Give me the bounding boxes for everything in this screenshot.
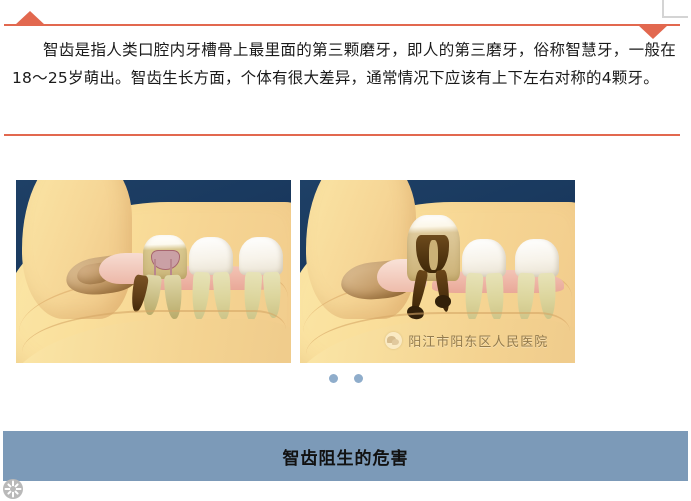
gallery-image-1[interactable]	[16, 180, 291, 363]
gallery-pagination[interactable]	[0, 374, 691, 383]
page-root: { "page": { "background_color": "#ffffff…	[0, 0, 691, 501]
gallery-image-2[interactable]: 阳江市阳东区人民医院	[300, 180, 575, 363]
triangle-up-icon	[15, 11, 45, 25]
molar-crown-2	[239, 237, 283, 275]
pulp-cavity-highlight	[429, 240, 437, 269]
molar-crown-1	[189, 237, 233, 275]
wechat-badge-icon	[385, 332, 402, 349]
sparkle-icon[interactable]	[3, 479, 23, 499]
quote-bottom-rule	[4, 134, 680, 136]
quote-top-rule	[4, 24, 680, 26]
section-title: 智齿阻生的危害	[283, 444, 409, 469]
selection-corner-box	[662, 0, 688, 18]
quote-paragraph: 智齿是指人类口腔内牙槽骨上最里面的第三颗磨牙，即人的第三磨牙，俗称智慧牙，一般在…	[12, 36, 676, 92]
section-title-bar: 智齿阻生的危害	[3, 431, 688, 481]
hospital-watermark: 阳江市阳东区人民医院	[385, 331, 548, 350]
quote-block: 智齿是指人类口腔内牙槽骨上最里面的第三颗磨牙，即人的第三磨牙，俗称智慧牙，一般在…	[0, 24, 691, 136]
image-gallery: 阳江市阳东区人民医院	[16, 180, 675, 363]
molar-crown-2	[515, 239, 559, 277]
pagination-dot-2[interactable]	[354, 374, 363, 383]
watermark-text: 阳江市阳东区人民医院	[408, 331, 548, 350]
molar-crown-1	[462, 239, 506, 277]
pagination-dot-1[interactable]	[329, 374, 338, 383]
